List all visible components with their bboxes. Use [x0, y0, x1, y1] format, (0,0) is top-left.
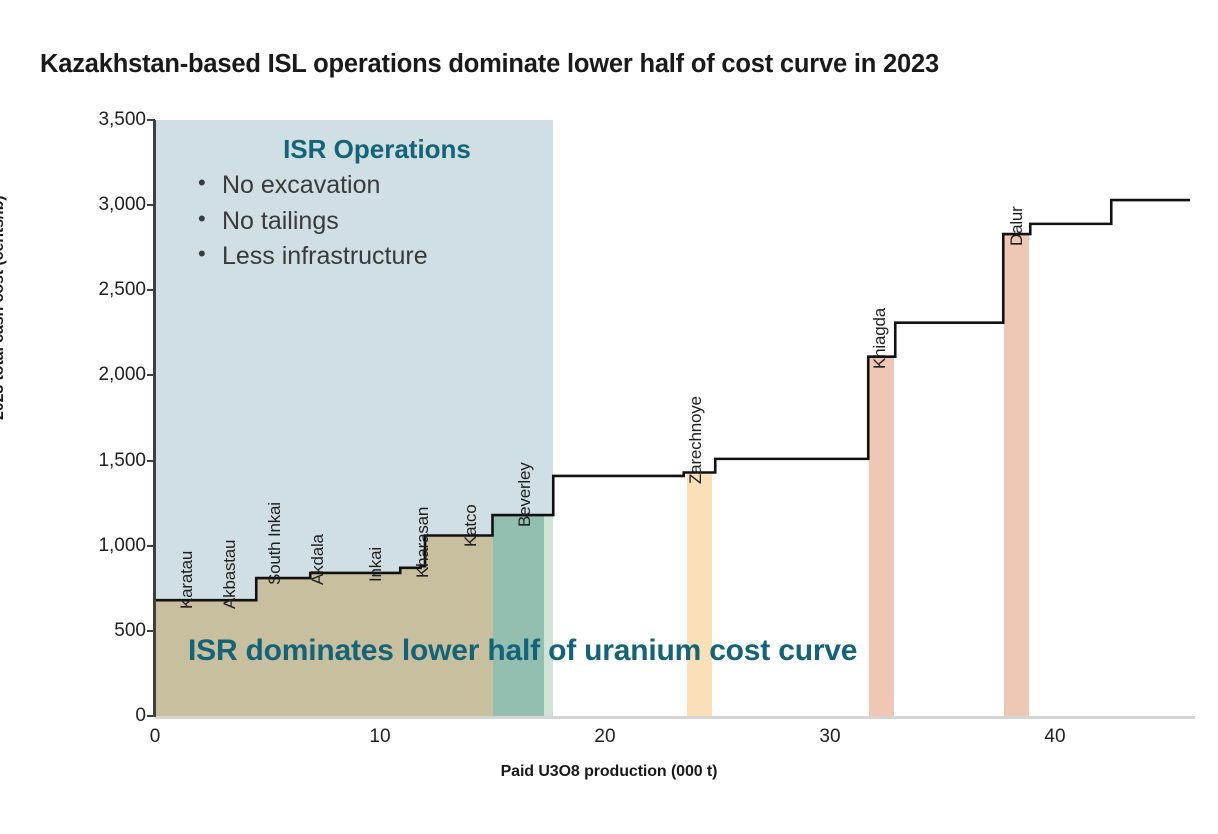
y-tick-mark — [147, 630, 155, 632]
y-tick-mark — [147, 204, 155, 206]
x-tick-label: 10 — [320, 726, 440, 748]
y-tick-label: 3,000 — [0, 194, 146, 216]
y-tick-mark — [147, 119, 155, 121]
isr-callout-bullets: No excavationNo tailingsLess infrastruct… — [188, 168, 548, 275]
x-tick-label: 40 — [995, 726, 1115, 748]
mine-label-zarechnoye: Zarechnoye — [686, 397, 706, 485]
isr-bullet-item: No tailings — [188, 204, 548, 240]
y-tick-mark — [147, 545, 155, 547]
x-tick-label: 30 — [770, 726, 890, 748]
mine-label-kharasan: Kharasan — [413, 507, 433, 578]
y-tick-label: 1,000 — [0, 535, 146, 557]
mine-label-karatau: Karatau — [177, 551, 197, 609]
mine-label-akdala: Akdala — [308, 534, 328, 585]
y-tick-mark — [147, 289, 155, 291]
y-tick-label: 2,000 — [0, 364, 146, 386]
chart-root: Kazakhstan-based ISL operations dominate… — [0, 0, 1218, 834]
x-tick-label: 20 — [545, 726, 665, 748]
mine-label-inkai: Inkai — [366, 547, 386, 582]
isr-callout-heading: ISR Operations — [188, 134, 548, 165]
cost-curve-line — [0, 0, 1218, 834]
y-tick-label: 1,500 — [0, 450, 146, 472]
y-axis-label: 2023 total cash cost (cents/lb) — [0, 195, 8, 420]
x-axis-line — [155, 716, 1195, 719]
banner-annotation: ISR dominates lower half of uranium cost… — [188, 634, 857, 668]
y-tick-mark — [147, 374, 155, 376]
mine-label-south-inkai: South Inkai — [265, 502, 285, 585]
mine-label-khiagda: Khiagda — [870, 308, 890, 369]
isr-bullet-item: No excavation — [188, 168, 548, 204]
isr-bullet-item: Less infrastructure — [188, 239, 548, 275]
y-tick-label: 3,500 — [0, 109, 146, 131]
mine-label-beverley: Beverley — [515, 463, 535, 528]
y-axis-line — [153, 120, 156, 717]
y-tick-label: 2,500 — [0, 279, 146, 301]
mine-label-akbastau: Akbastau — [220, 540, 240, 609]
mine-label-katco: Katco — [461, 505, 481, 547]
isr-operations-callout: ISR Operations No excavationNo tailingsL… — [188, 134, 548, 275]
x-tick-label: 0 — [95, 726, 215, 748]
y-tick-mark — [147, 715, 155, 717]
y-tick-label: 500 — [0, 620, 146, 642]
y-tick-label: 0 — [0, 705, 146, 727]
mine-label-dalur: Dalur — [1007, 206, 1027, 246]
y-tick-mark — [147, 460, 155, 462]
x-axis-label: Paid U3O8 production (000 t) — [0, 763, 1218, 781]
